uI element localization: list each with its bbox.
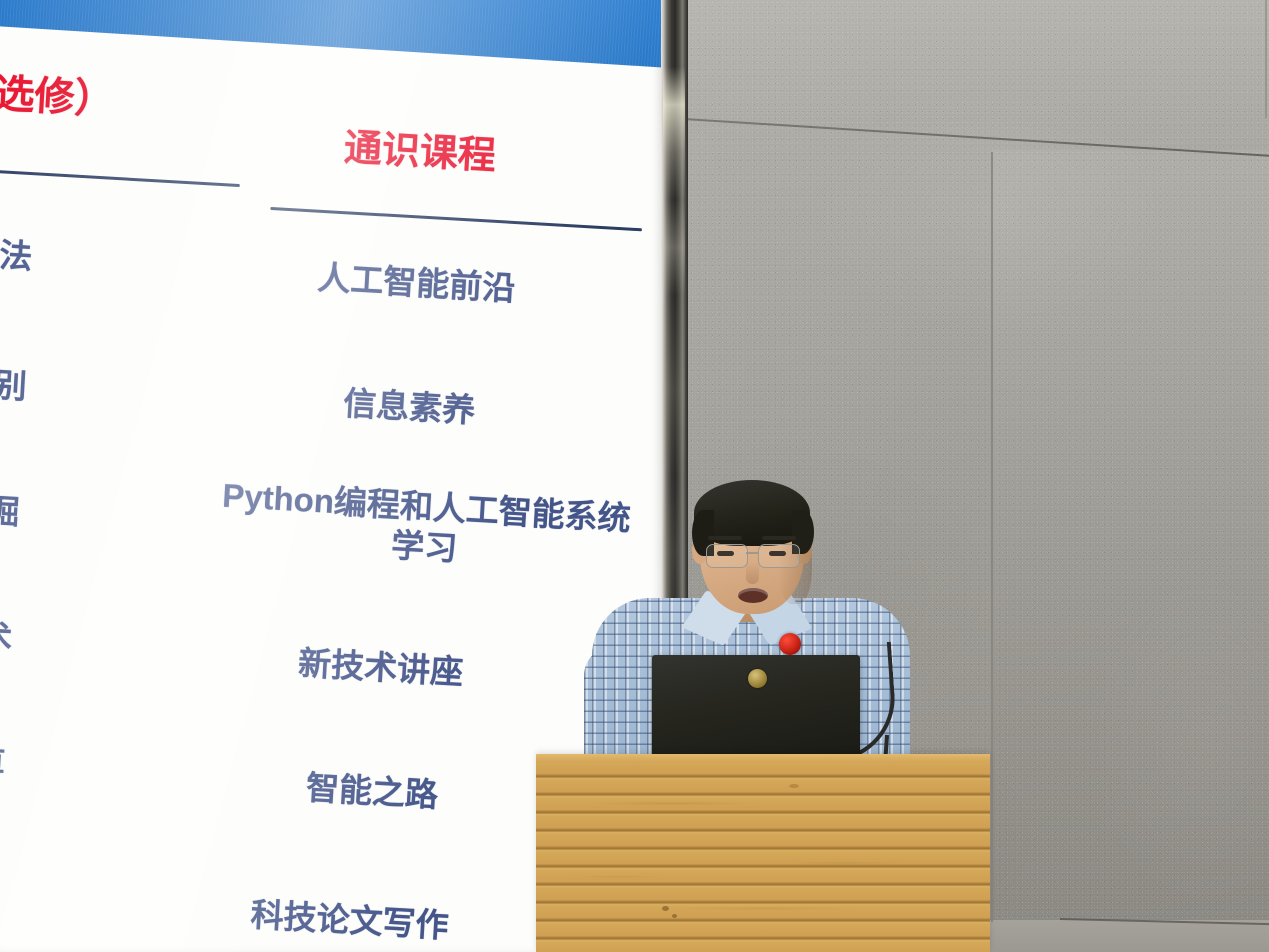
wooden-podium	[536, 754, 990, 952]
eyeglasses-lens-right	[758, 544, 800, 568]
header-rule-right	[270, 207, 642, 231]
speaker-mouth	[738, 588, 768, 603]
slide-item-left-1: 理论与方法	[0, 221, 34, 278]
slide-item-right-5: 智能之路	[305, 761, 440, 817]
speaker-nose	[746, 562, 759, 584]
podium-knot-2	[672, 914, 677, 918]
speaker-eyebrow-left	[708, 536, 742, 540]
laptop-emblem-icon	[748, 669, 767, 688]
slide-item-right-1: 人工智能前沿	[316, 251, 516, 310]
wall-tile-upper	[684, 0, 1269, 124]
slide-item-left-4: 感技术	[0, 606, 14, 660]
slide-item-right-3: Python编程和人工智能系统学习	[213, 475, 637, 579]
slide-column-header-left: 与技术（选修）	[0, 59, 256, 135]
header-rule-left	[0, 159, 240, 187]
podium-stain	[789, 784, 799, 788]
podium-knot	[662, 906, 669, 911]
laptop-lid	[652, 655, 860, 759]
microphone-head	[779, 633, 801, 655]
slide-item-right-6: 科技论文写作	[250, 888, 450, 947]
wall-seam-vertical-top	[1265, 0, 1267, 118]
wall-tile-right	[992, 150, 1269, 922]
wall-seam-vertical	[991, 152, 993, 922]
speaker-eyebrow-right	[762, 536, 796, 540]
slide-item-right-2: 信息素养	[342, 376, 477, 432]
eyeglasses-bridge	[746, 552, 758, 554]
slide-column-header-right: 通识课程	[343, 116, 498, 180]
slide-item-right-4: 新技术讲座	[297, 636, 464, 693]
slide-item-left-3: 据挖掘	[0, 480, 21, 534]
photo-scene: 与技术（选修） 通识课程 理论与方法 式识别 据挖掘 感技术 知计算 制导论 人…	[0, 0, 1269, 952]
eyeglasses-lens-left	[706, 544, 748, 568]
podium-wood-grain	[536, 754, 990, 952]
slide-item-left-2: 式识别	[0, 355, 28, 409]
slide-item-left-5: 知计算	[0, 732, 7, 786]
